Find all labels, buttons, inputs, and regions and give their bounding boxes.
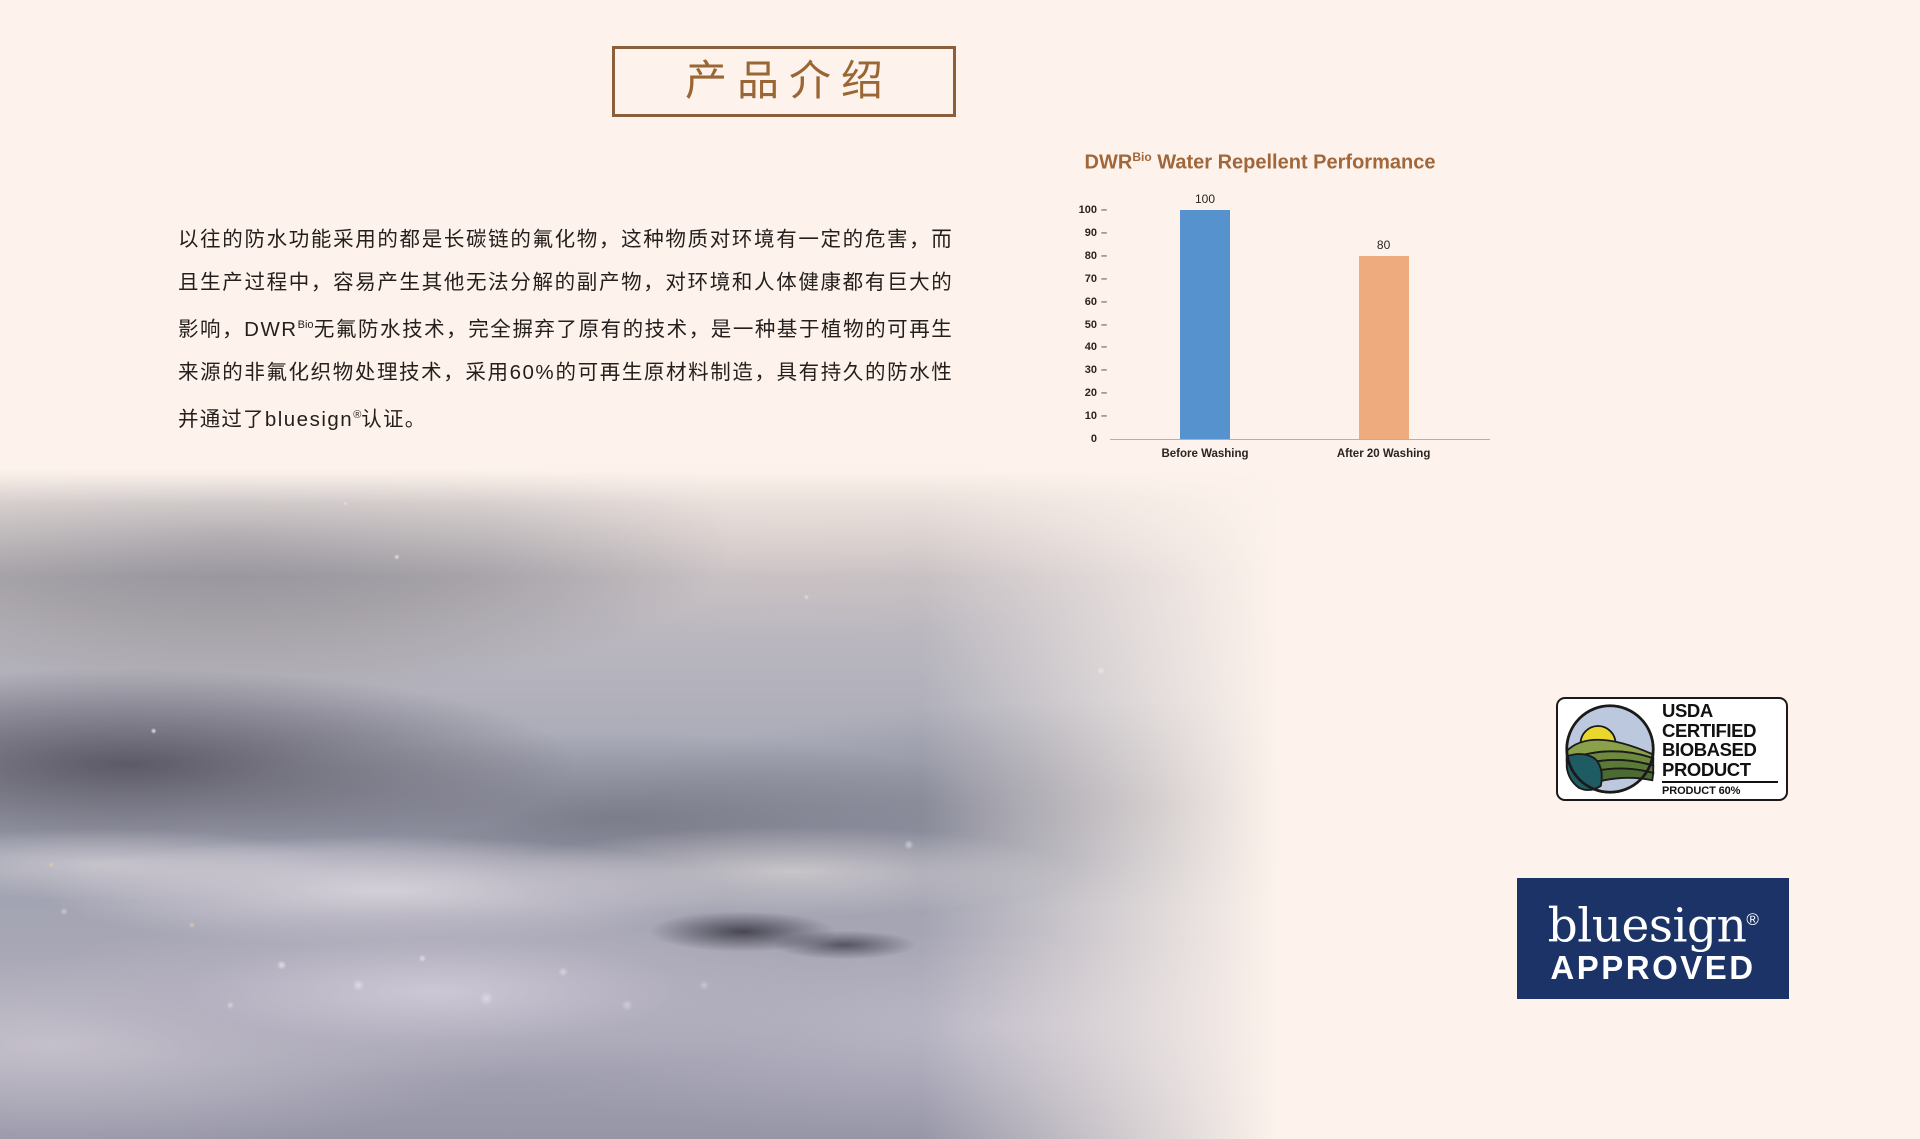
chart-x-axis-labels: Before WashingAfter 20 Washing <box>1110 448 1490 472</box>
usda-badge-text: USDA CERTIFIED BIOBASED PRODUCT PRODUCT … <box>1662 701 1778 797</box>
chart-title-superscript: Bio <box>1132 150 1151 164</box>
body-line-3-prefix: 影响， <box>178 318 244 341</box>
body-line-4-prefix: 来源的非氟化织物处理技术，采用 <box>178 361 510 384</box>
chart-y-axis: 100–90–80–70–60–50–40–30–20–10–0– <box>1070 210 1110 440</box>
chart-x-tick-label: After 20 Washing <box>1337 448 1431 460</box>
chart-y-tick: 10– <box>1085 410 1110 422</box>
chart-bars: 10080 <box>1110 210 1490 439</box>
chart-title: DWRBio Water Repellent Performance <box>1030 150 1490 175</box>
bluesign-approved-badge: bluesign® APPROVED <box>1517 878 1789 999</box>
chart-x-tick-label: Before Washing <box>1161 448 1248 460</box>
bluesign-wordmark: bluesign® <box>1548 895 1759 952</box>
body-line-4-suffix: 的可再生原材料制造，具有持久的防水性 <box>555 361 953 384</box>
chart-y-tick: 90– <box>1085 227 1110 239</box>
dwr-term: DWR <box>244 318 297 341</box>
chart-y-tick: 80– <box>1085 250 1110 262</box>
usda-divider <box>1662 781 1778 783</box>
body-line-5-suffix: 认证。 <box>361 408 426 431</box>
chart-y-tick: 100– <box>1079 204 1110 216</box>
slide-root: 产品介绍 以往的防水功能采用的都是长碳链的氟化物，这种物质对环境有一定的危害，而… <box>0 0 1920 1139</box>
usda-line-2: CERTIFIED <box>1662 721 1778 741</box>
chart-y-tick: 50– <box>1085 319 1110 331</box>
body-paragraph: 以往的防水功能采用的都是长碳链的氟化物，这种物质对环境有一定的危害，而且生产过程… <box>178 218 953 441</box>
water-repellent-bar-chart: DWRBio Water Repellent Performance 100–9… <box>1030 150 1490 480</box>
body-line-1: 以往的防水功能采用的都是长碳链的氟化物，这种物质对环境有一定的危害，而 <box>178 228 953 251</box>
chart-title-rest: Water Repellent Performance <box>1152 152 1436 174</box>
chart-plot-area: 100–90–80–70–60–50–40–30–20–10–0– 10080 … <box>1070 210 1490 440</box>
usda-logo-icon <box>1564 703 1656 795</box>
chart-bar[interactable]: 80 <box>1359 256 1409 439</box>
dwr-superscript: Bio <box>298 319 314 331</box>
chart-y-tick: 40– <box>1085 341 1110 353</box>
usda-line-1: USDA <box>1662 701 1778 721</box>
usda-biobased-badge: USDA CERTIFIED BIOBASED PRODUCT PRODUCT … <box>1556 697 1788 801</box>
bluesign-registered-icon: ® <box>1746 910 1758 929</box>
chart-y-tick: 70– <box>1085 273 1110 285</box>
water-bg-fade-layer <box>0 470 1280 1139</box>
chart-bar-value-label: 80 <box>1347 238 1421 252</box>
chart-x-axis-line <box>1110 439 1490 440</box>
chart-bar-rect[interactable] <box>1359 256 1409 439</box>
body-line-2: 且生产过程中，容易产生其他无法分解的副产物，对环境和人体健康都有巨大的 <box>178 271 953 294</box>
page-title: 产品介绍 <box>675 61 893 103</box>
chart-title-main: DWR <box>1085 152 1133 174</box>
usda-line-3: BIOBASED <box>1662 740 1778 760</box>
chart-y-tick: 30– <box>1085 364 1110 376</box>
bluesign-approved-label: APPROVED <box>1550 950 1755 986</box>
bluesign-word-text: bluesign <box>1548 899 1747 954</box>
section-title-box: 产品介绍 <box>612 46 956 117</box>
bluesign-term: bluesign <box>265 408 353 431</box>
chart-y-tick: 60– <box>1085 296 1110 308</box>
chart-y-tick: 0– <box>1091 433 1110 445</box>
chart-bar-value-label: 100 <box>1168 192 1242 206</box>
body-line-3-suffix: 无氟防水技术，完全摒弃了原有的技术，是一种基于植物的可再生 <box>314 318 953 341</box>
water-background-image <box>0 470 1280 1139</box>
usda-product-percent: PRODUCT 60% <box>1662 785 1778 797</box>
chart-y-tick: 20– <box>1085 387 1110 399</box>
chart-bar-rect[interactable] <box>1180 210 1230 439</box>
body-line-5-prefix: 并通过了 <box>178 408 265 431</box>
chart-bar[interactable]: 100 <box>1180 210 1230 439</box>
biobased-percent: 60% <box>510 361 556 384</box>
usda-line-4: PRODUCT <box>1662 760 1778 780</box>
